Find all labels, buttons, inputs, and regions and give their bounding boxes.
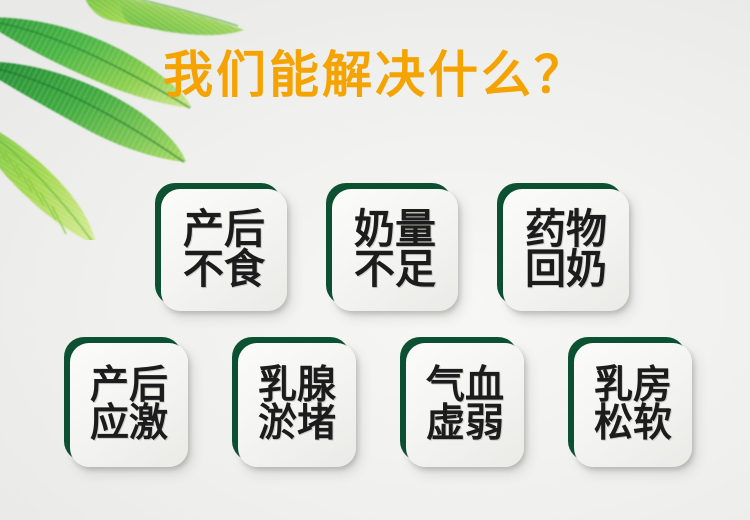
card-face: 产后 应激 bbox=[70, 343, 188, 467]
card-line-2: 应激 bbox=[90, 405, 168, 443]
problem-card[interactable]: 奶量 不足 bbox=[326, 183, 452, 305]
card-row-2: 产后 应激 乳腺 淤堵 气血 虚弱 乳房 松软 bbox=[0, 337, 750, 461]
card-line-1: 气血 bbox=[426, 367, 504, 405]
problem-card[interactable]: 乳腺 淤堵 bbox=[232, 337, 350, 461]
card-line-2: 不足 bbox=[354, 250, 436, 290]
card-face: 乳腺 淤堵 bbox=[238, 343, 356, 467]
problem-card[interactable]: 药物 回奶 bbox=[497, 183, 623, 305]
card-face: 气血 虚弱 bbox=[406, 343, 524, 467]
card-line-2: 回奶 bbox=[525, 250, 607, 290]
card-grid: 产后 不食 奶量 不足 药物 回奶 产后 应激 bbox=[0, 0, 750, 520]
problem-card[interactable]: 产后 应激 bbox=[64, 337, 182, 461]
card-row-1: 产后 不食 奶量 不足 药物 回奶 bbox=[0, 183, 750, 305]
card-line-2: 松软 bbox=[594, 405, 672, 443]
card-face: 药物 回奶 bbox=[503, 189, 629, 311]
problem-card[interactable]: 乳房 松软 bbox=[568, 337, 686, 461]
problem-card[interactable]: 产后 不食 bbox=[155, 183, 281, 305]
card-line-2: 淤堵 bbox=[258, 405, 336, 443]
card-line-1: 乳房 bbox=[594, 367, 672, 405]
card-line-2: 不食 bbox=[183, 250, 265, 290]
card-line-2: 虚弱 bbox=[426, 405, 504, 443]
card-line-1: 产后 bbox=[90, 367, 168, 405]
problem-card[interactable]: 气血 虚弱 bbox=[400, 337, 518, 461]
card-face: 奶量 不足 bbox=[332, 189, 458, 311]
card-face: 乳房 松软 bbox=[574, 343, 692, 467]
card-line-1: 乳腺 bbox=[258, 367, 336, 405]
card-face: 产后 不食 bbox=[161, 189, 287, 311]
